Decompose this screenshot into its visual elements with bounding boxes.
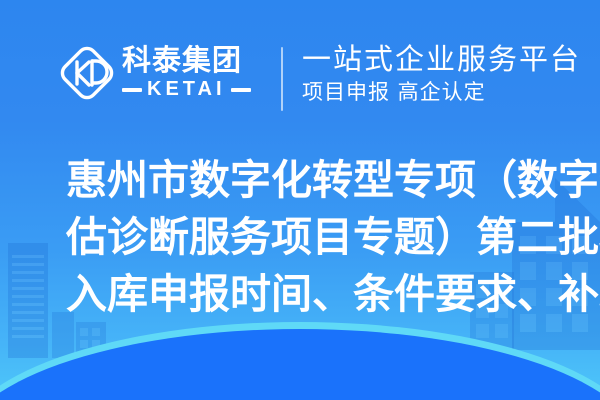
page-title: 惠州市数字化转型专项（数字化评 估诊断服务项目专题）第二批项目 入库申报时间、条… xyxy=(66,152,546,323)
tagline-block: 一站式企业服务平台 项目申报 高企认定 xyxy=(302,42,581,105)
tagline-sub: 项目申报 高企认定 xyxy=(302,79,581,105)
banner-header: 科泰集团 KETAI 一站式企业服务平台 项目申报 高企认定 xyxy=(0,0,600,130)
brand-name-en-row: KETAI xyxy=(122,78,251,101)
tagline-main: 一站式企业服务平台 xyxy=(302,42,581,76)
brand-name-cn: 科泰集团 xyxy=(122,45,251,75)
title-line-1: 惠州市数字化转型专项（数字化评 xyxy=(66,152,546,209)
promo-banner: 科泰集团 KETAI 一站式企业服务平台 项目申报 高企认定 惠州市数字化转型专… xyxy=(0,0,600,400)
title-line-3: 入库申报时间、条件要求、补助奖 xyxy=(66,266,546,323)
title-line-2: 估诊断服务项目专题）第二批项目 xyxy=(66,209,546,266)
vertical-divider xyxy=(281,47,283,111)
brand-name-en: KETAI xyxy=(147,78,226,101)
brand-logo[interactable]: 科泰集团 KETAI xyxy=(58,44,251,102)
building-left-tower xyxy=(8,243,48,358)
brand-wordmark: 科泰集团 KETAI xyxy=(122,45,251,101)
ketai-diamond-monogram-icon xyxy=(58,44,116,102)
dash-right-icon xyxy=(231,88,251,92)
dash-left-icon xyxy=(122,88,142,92)
